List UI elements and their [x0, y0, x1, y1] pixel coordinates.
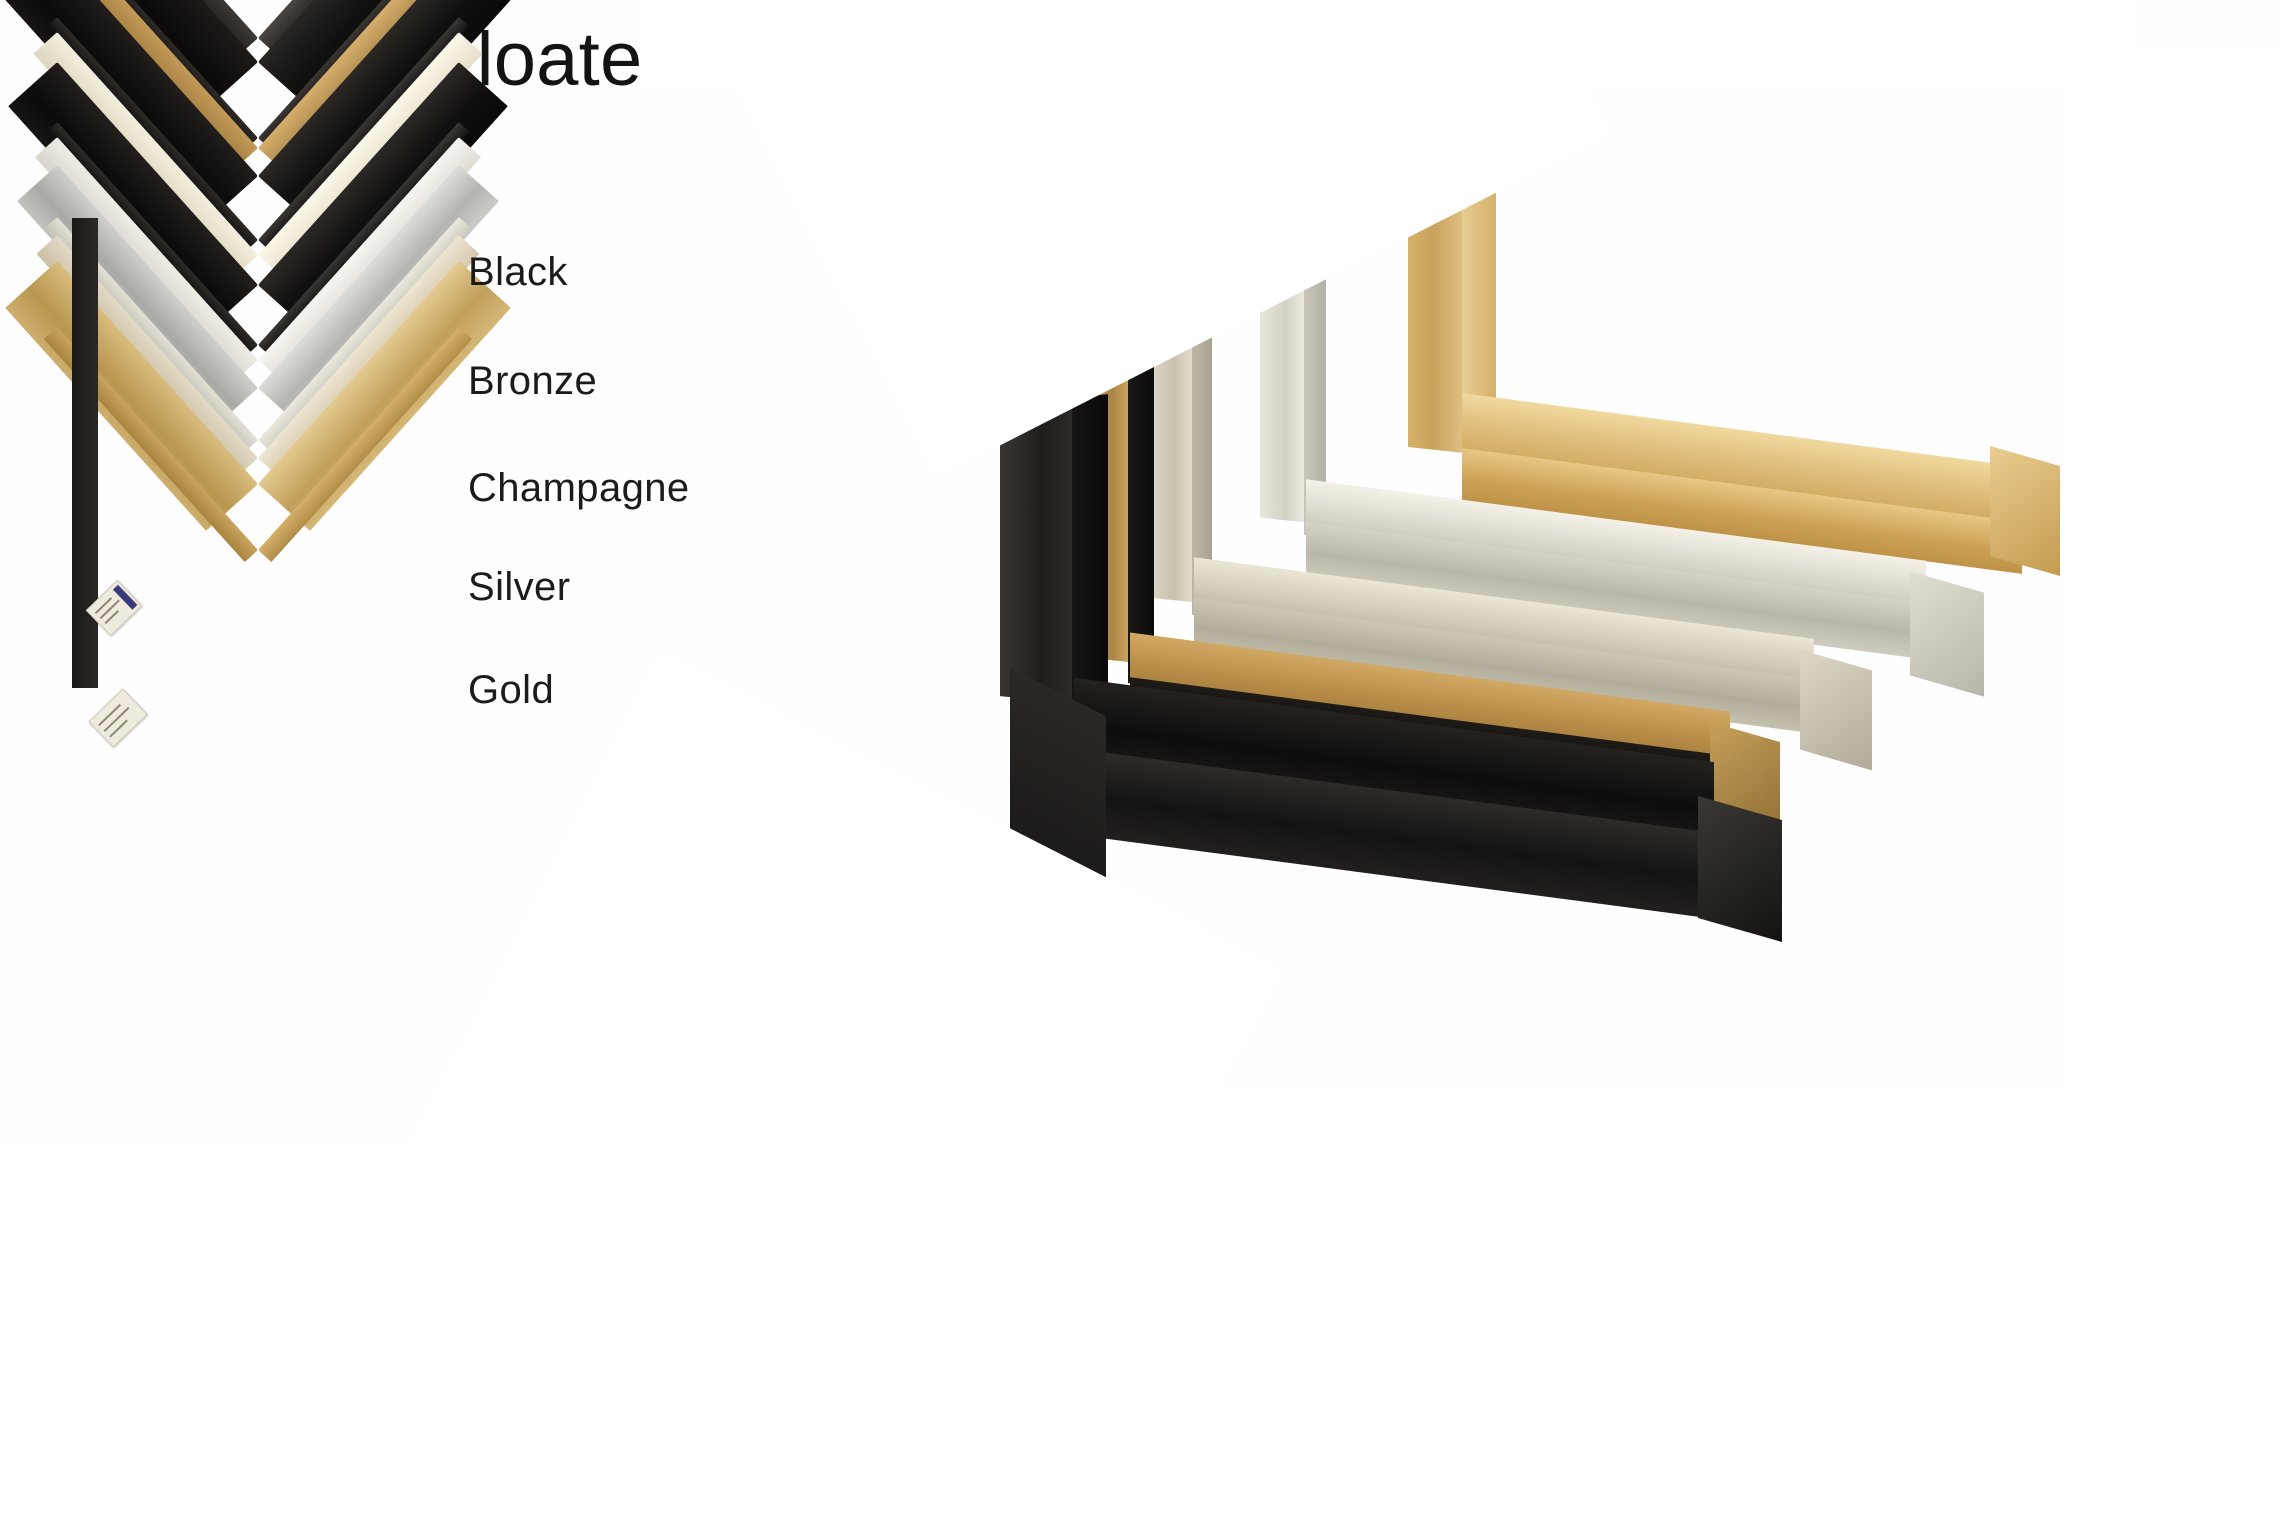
mask-top	[640, 0, 2140, 90]
barcode-sticker-gold	[88, 688, 148, 747]
swatch-label-silver: Silver	[468, 565, 570, 610]
sticker-line	[95, 597, 112, 614]
frame-profiles-perspective-photo	[1000, 90, 2280, 1140]
mask-bottom	[640, 1090, 2140, 1350]
black-end-cap	[1698, 796, 1782, 942]
swatch-label-black: Black	[468, 250, 568, 295]
sticker-blue-stripe	[113, 585, 137, 610]
swatch-label-gold: Gold	[468, 668, 554, 713]
swatch-label-champagne: Champagne	[468, 466, 690, 511]
mask-right	[2062, 50, 2280, 1230]
swatch-label-bronze: Bronze	[468, 359, 597, 404]
